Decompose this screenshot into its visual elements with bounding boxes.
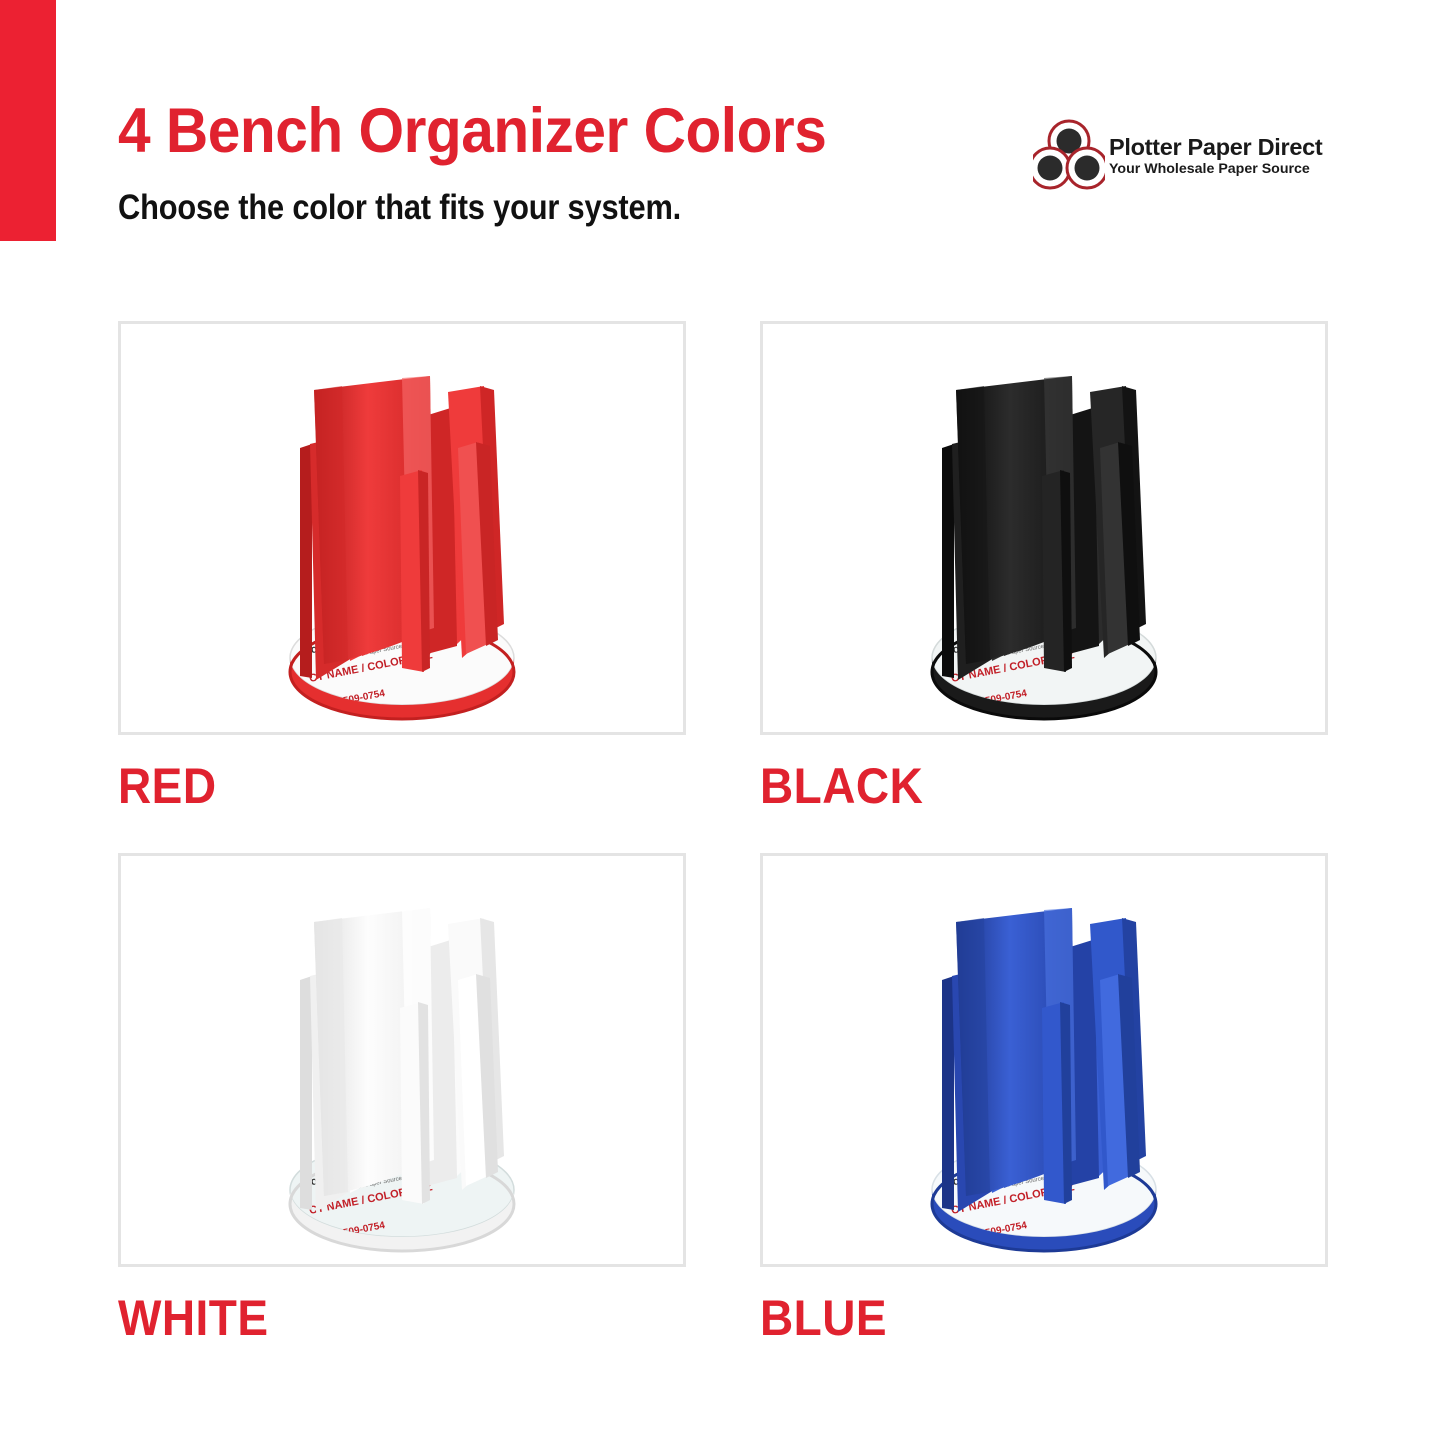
header: 4 Bench Organizer Colors Choose the colo… (118, 100, 1333, 250)
product-image-frame: otter Paper Direct Your Wholesale Paper … (760, 853, 1328, 1267)
paper-rolls-icon (1033, 119, 1105, 191)
logo-tagline: Your Wholesale Paper Source (1109, 161, 1310, 177)
product-image-frame: otter Paper Direct Your Wholesale Paper … (118, 321, 686, 735)
logo-company-name: Plotter Paper Direct (1109, 134, 1322, 160)
bench-organizer-product-image: otter Paper Direct Your Wholesale Paper … (252, 860, 552, 1260)
color-option-card[interactable]: otter Paper Direct Your Wholesale Paper … (760, 853, 1328, 1343)
brand-logo[interactable]: Plotter Paper Direct Your Wholesale Pape… (1033, 116, 1333, 194)
product-image-frame: otter Paper Direct Your Wholesale Paper … (118, 853, 686, 1267)
page-subtitle: Choose the color that fits your system. (118, 188, 1187, 228)
color-name-label: RED (118, 761, 641, 811)
bench-organizer-product-image: otter Paper Direct Your Wholesale Paper … (894, 860, 1194, 1260)
left-accent-bar (0, 0, 56, 241)
color-option-card[interactable]: otter Paper Direct Your Wholesale Paper … (760, 321, 1328, 811)
color-name-label: BLACK (760, 761, 1283, 811)
color-option-card[interactable]: otter Paper Direct Your Wholesale Paper … (118, 321, 686, 811)
logo-text-block: Plotter Paper Direct Your Wholesale Pape… (1109, 133, 1333, 178)
color-option-card[interactable]: otter Paper Direct Your Wholesale Paper … (118, 853, 686, 1343)
color-name-label: WHITE (118, 1293, 641, 1343)
organizer-illustration-0: otter Paper Direct Your Wholesale Paper … (252, 328, 552, 728)
organizer-illustration-1: otter Paper Direct Your Wholesale Paper … (894, 328, 1194, 728)
product-image-frame: otter Paper Direct Your Wholesale Paper … (760, 321, 1328, 735)
bench-organizer-product-image: otter Paper Direct Your Wholesale Paper … (252, 328, 552, 728)
color-name-label: BLUE (760, 1293, 1283, 1343)
bench-organizer-product-image: otter Paper Direct Your Wholesale Paper … (894, 328, 1194, 728)
organizer-illustration-3: otter Paper Direct Your Wholesale Paper … (894, 860, 1194, 1260)
organizer-illustration-2: otter Paper Direct Your Wholesale Paper … (252, 860, 552, 1260)
